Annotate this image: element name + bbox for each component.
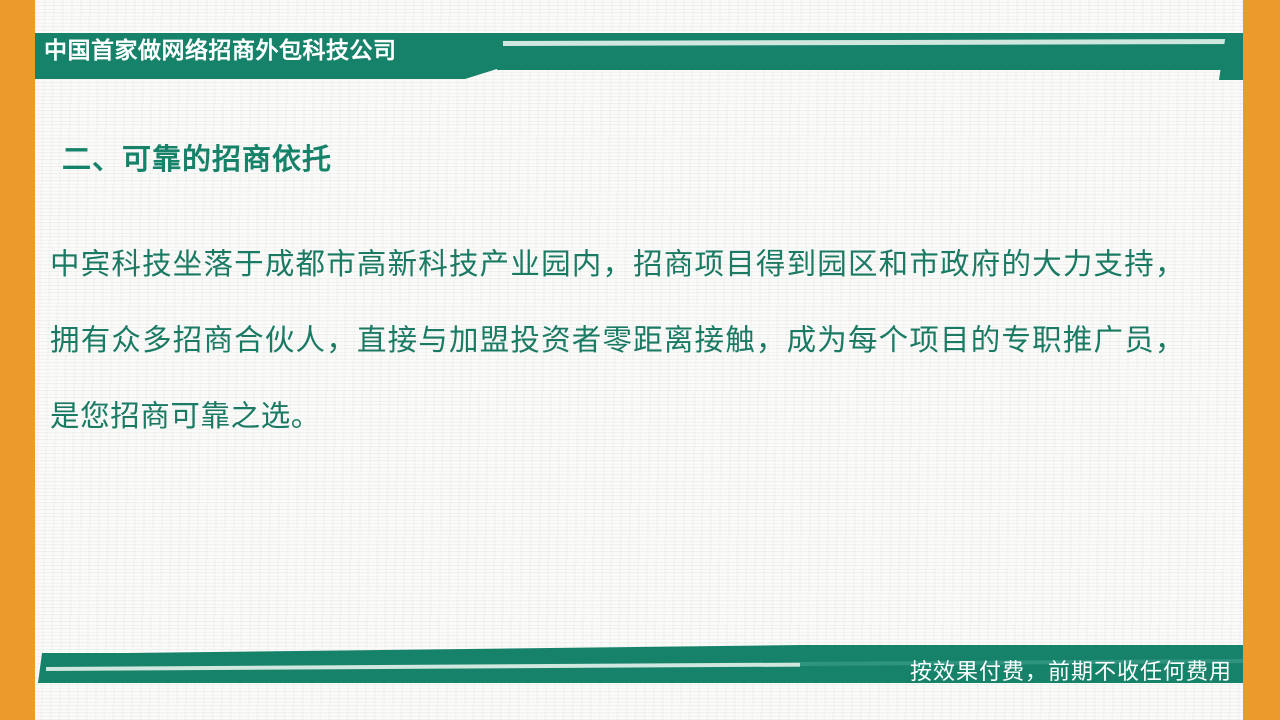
- slide-canvas: 中国首家做网络招商外包科技公司 二、可靠的招商依托 中宾科技坐落于成都市高新科技…: [0, 0, 1280, 720]
- body-paragraph: 中宾科技坐落于成都市高新科技产业园内，招商项目得到园区和市政府的大力支持，拥有众…: [50, 226, 1185, 454]
- section-heading: 二、可靠的招商依托: [62, 136, 332, 178]
